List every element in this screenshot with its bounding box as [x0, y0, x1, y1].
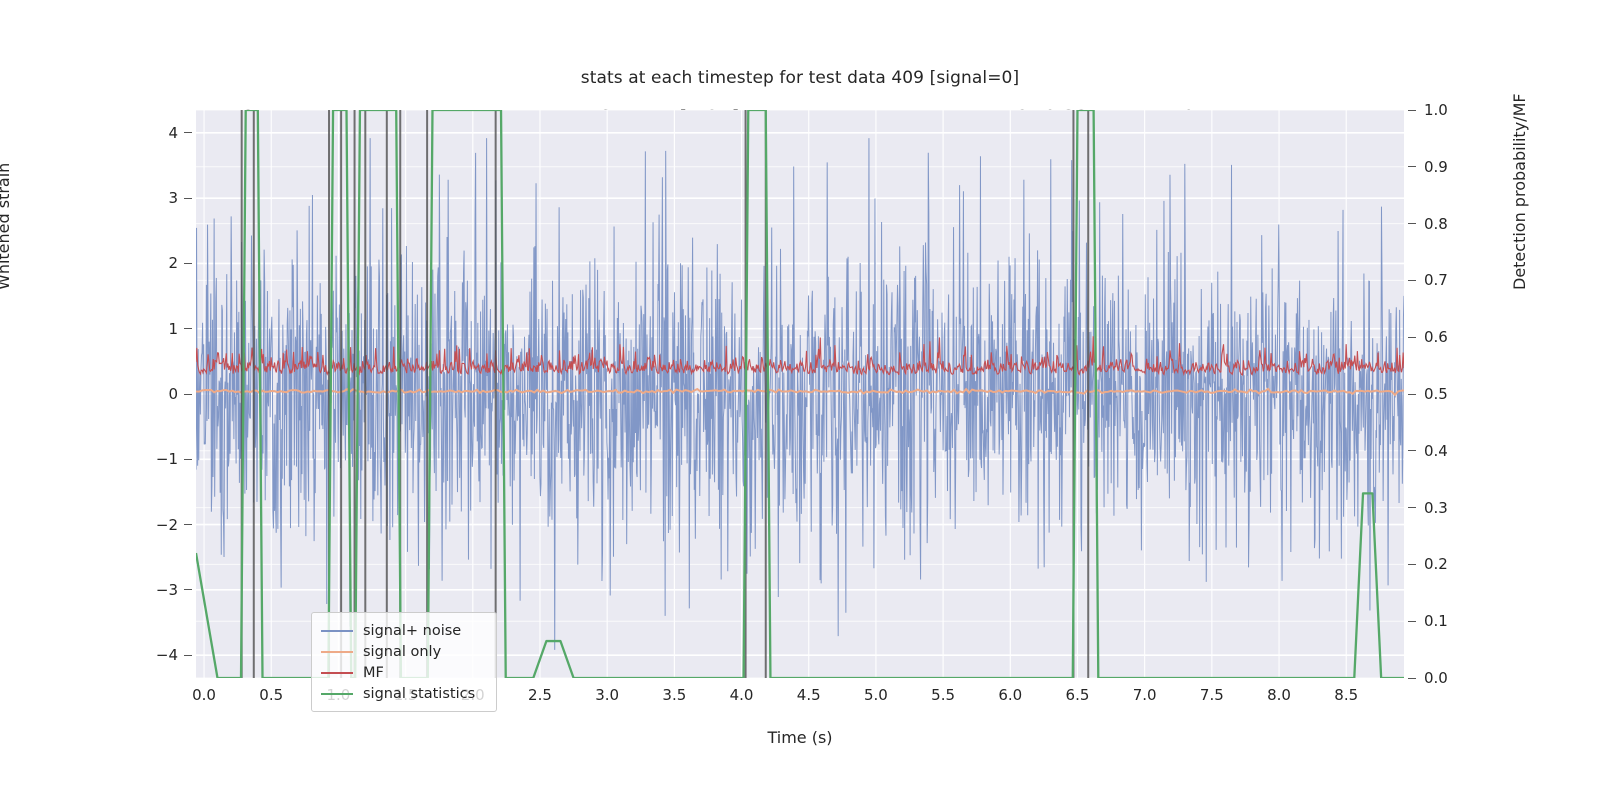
y-tick-right-label: 0.6	[1424, 328, 1470, 346]
plot-canvas	[196, 110, 1404, 678]
x-axis-label: Time (s)	[0, 728, 1600, 747]
x-tick-label: 7.5	[1182, 686, 1242, 704]
y-tick-left-label: −3	[132, 581, 178, 599]
y-tick-left-label: 4	[132, 124, 178, 142]
y-tick-right-mark	[1408, 110, 1416, 111]
x-tick-label: 5.5	[913, 686, 973, 704]
legend-item-label: signal only	[363, 644, 441, 660]
y-tick-right-label: 0.3	[1424, 499, 1470, 517]
chart-title: stats at each timestep for test data 409…	[0, 68, 1600, 88]
y-tick-right-label: 0.2	[1424, 555, 1470, 573]
x-tick-label: 7.0	[1115, 686, 1175, 704]
y-axis-right-label: Detection probability/MF	[1510, 93, 1529, 290]
plot-area	[196, 110, 1404, 678]
y-tick-left-mark	[184, 655, 192, 656]
y-tick-right-mark	[1408, 507, 1416, 508]
y-tick-left-mark	[184, 263, 192, 264]
y-tick-right-label: 0.0	[1424, 669, 1470, 687]
y-tick-right-mark	[1408, 223, 1416, 224]
x-tick-label: 0.5	[241, 686, 301, 704]
y-tick-right-mark	[1408, 678, 1416, 679]
y-tick-left-mark	[184, 132, 192, 133]
x-tick-label: 6.0	[980, 686, 1040, 704]
y-tick-right-mark	[1408, 280, 1416, 281]
legend-item-label: signal+ noise	[363, 623, 461, 639]
y-tick-right-mark	[1408, 337, 1416, 338]
y-tick-left-label: 0	[132, 385, 178, 403]
y-axis-left-label: Whitened strain	[0, 163, 13, 290]
legend-line-icon	[321, 630, 353, 632]
y-tick-left-label: −1	[132, 450, 178, 468]
y-tick-right-label: 0.7	[1424, 271, 1470, 289]
y-tick-right-label: 0.4	[1424, 442, 1470, 460]
x-tick-label: 2.5	[510, 686, 570, 704]
y-tick-right-label: 0.5	[1424, 385, 1470, 403]
y-tick-right-mark	[1408, 564, 1416, 565]
legend-item[interactable]: signal only	[321, 641, 487, 662]
x-tick-label: 3.5	[644, 686, 704, 704]
x-tick-label: 5.0	[846, 686, 906, 704]
y-tick-right-label: 1.0	[1424, 101, 1470, 119]
y-tick-left-label: 3	[132, 189, 178, 207]
y-tick-left-label: 1	[132, 320, 178, 338]
y-tick-left-label: −2	[132, 516, 178, 534]
y-tick-right-label: 0.9	[1424, 158, 1470, 176]
y-tick-left-mark	[184, 524, 192, 525]
y-tick-right-mark	[1408, 394, 1416, 395]
x-tick-label: 0.0	[174, 686, 234, 704]
y-tick-right-label: 0.8	[1424, 215, 1470, 233]
y-tick-right-mark	[1408, 450, 1416, 451]
x-tick-label: 6.5	[1047, 686, 1107, 704]
legend-item[interactable]: signal+ noise	[321, 620, 487, 641]
legend-line-icon	[321, 672, 353, 674]
y-tick-left-mark	[184, 459, 192, 460]
y-tick-left-mark	[184, 589, 192, 590]
y-tick-right-label: 0.1	[1424, 612, 1470, 630]
y-tick-left-mark	[184, 394, 192, 395]
y-tick-right-mark	[1408, 166, 1416, 167]
x-tick-label: 8.5	[1316, 686, 1376, 704]
y-tick-left-label: −4	[132, 646, 178, 664]
y-tick-left-label: 2	[132, 254, 178, 272]
y-tick-left-mark	[184, 198, 192, 199]
x-tick-label: 4.0	[712, 686, 772, 704]
legend-line-icon	[321, 651, 353, 653]
x-tick-label: 8.0	[1249, 686, 1309, 704]
matplotlib-figure: stats at each timestep for test data 409…	[0, 0, 1600, 800]
legend-line-icon	[321, 693, 353, 695]
x-tick-label: 3.0	[577, 686, 637, 704]
legend-item[interactable]: MF	[321, 662, 487, 683]
legend-item-label: MF	[363, 665, 384, 681]
x-tick-label: 4.5	[779, 686, 839, 704]
chart-legend[interactable]: signal+ noisesignal onlyMFsignal statist…	[311, 612, 497, 712]
legend-item-label: signal statistics	[363, 686, 475, 702]
y-tick-left-mark	[184, 328, 192, 329]
y-tick-right-mark	[1408, 621, 1416, 622]
legend-item[interactable]: signal statistics	[321, 683, 487, 704]
